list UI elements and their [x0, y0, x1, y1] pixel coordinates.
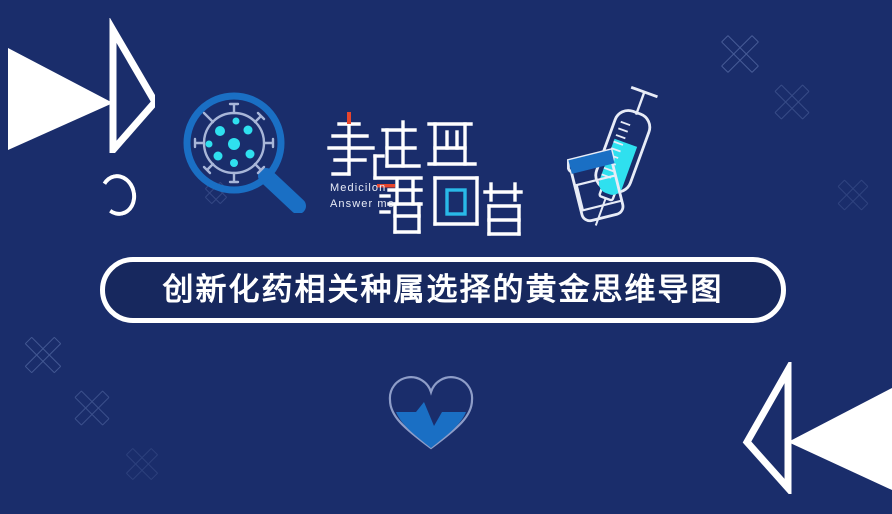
x-decor-icon [124, 446, 160, 482]
x-decor-icon [772, 82, 812, 122]
triangle-top-left-outline-icon [113, 30, 155, 150]
triangle-bottom-right-outline-icon [747, 370, 788, 488]
triangle-top-left-group [0, 18, 155, 153]
medicilon-logo: Medicilon Answer me [325, 108, 525, 236]
logo-chinese-mark [325, 108, 525, 236]
title-pill: 创新化药相关种属选择的黄金思维导图 [100, 257, 786, 323]
x-decor-icon [836, 178, 870, 212]
banner-root: Medicilon Answer me 创新化药相关种属选择的黄金思维导图 [0, 0, 892, 514]
logo-cyan-accent [447, 190, 465, 214]
crescent-arc-icon [96, 171, 140, 220]
logo-english-line-1: Medicilon [330, 180, 395, 196]
syringe-vial-icon [558, 78, 673, 238]
x-decor-icon [72, 388, 112, 428]
triangle-bottom-right-solid-icon [788, 388, 892, 490]
logo-english-text: Medicilon Answer me [330, 180, 395, 212]
logo-english-line-2: Answer me [330, 196, 395, 212]
logo-red-accent [347, 112, 351, 124]
heart-pulse-icon [386, 374, 476, 452]
x-decor-icon [22, 334, 64, 376]
x-decor-icon [718, 32, 762, 76]
virus-magnifier-icon [178, 88, 308, 213]
triangle-bottom-right-group [742, 362, 892, 494]
page-title: 创新化药相关种属选择的黄金思维导图 [163, 275, 724, 306]
triangle-top-left-solid-icon [8, 48, 113, 150]
